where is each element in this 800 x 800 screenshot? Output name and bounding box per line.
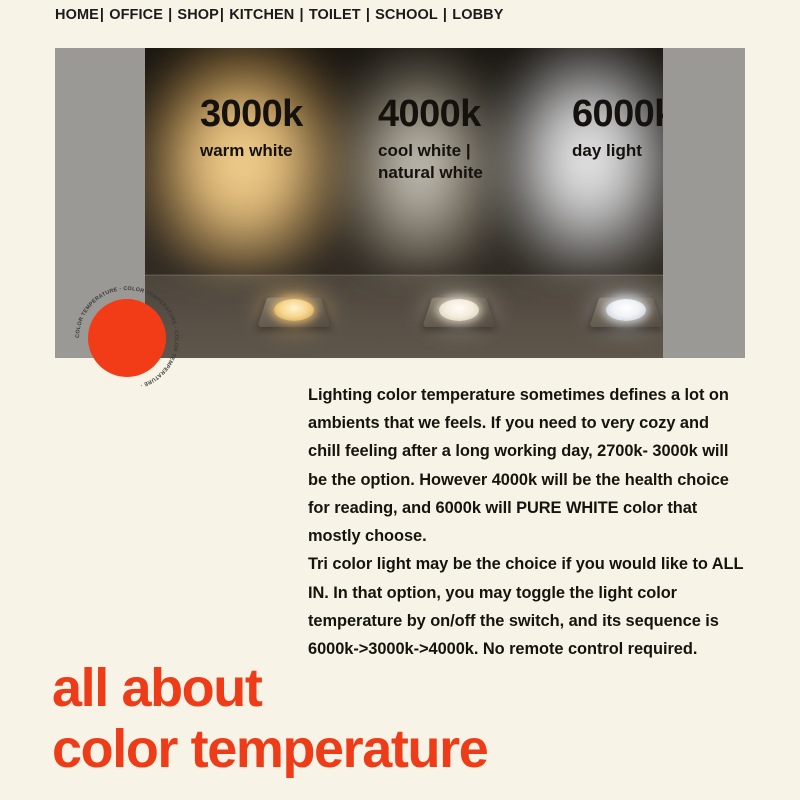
downlight-lens [274,299,314,321]
kelvin-desc-6000k: day light [572,140,663,162]
downlight-fixture-4000k [428,290,490,330]
kelvin-label-3000k: 3000k warm white [200,95,303,162]
page-headline: all about color temperature [52,658,487,780]
kelvin-labels: 3000k warm white 4000k cool white | natu… [145,48,663,275]
kelvin-desc-3000k: warm white [200,140,303,162]
downlight-fixture-3000k [263,290,325,330]
nav-item-school[interactable]: SCHOOL [375,7,438,23]
article-body: Lighting color temperature sometimes def… [308,381,744,663]
kelvin-label-6000k: 6000k day light [572,95,663,162]
kelvin-label-4000k: 4000k cool white | natural white [378,95,483,184]
kelvin-value-3000k: 3000k [200,95,303,133]
main-navigation[interactable]: HOME| OFFICE | SHOP| KITCHEN | TOILET | … [55,7,503,23]
nav-item-lobby[interactable]: LOBBY [452,7,503,23]
nav-item-toilet[interactable]: TOILET [309,7,361,23]
circular-stamp-badge: COLOR TEMPERATURE · COLOR TEMPERATURE · … [74,285,180,391]
kelvin-value-6000k: 6000k [572,95,663,133]
nav-item-home[interactable]: HOME [55,7,99,23]
downlight-fixture-6000k [595,290,657,330]
badge-red-dot [88,299,166,377]
body-paragraph-1: Lighting color temperature sometimes def… [308,381,744,550]
downlight-lens [439,299,479,321]
nav-separator: | [163,7,173,23]
nav-separator: | [294,7,304,23]
nav-separator: | [438,7,448,23]
body-paragraph-2: Tri color light may be the choice if you… [308,550,744,663]
downlight-lens [606,299,646,321]
nav-separator: | [99,7,105,23]
nav-item-office[interactable]: OFFICE [109,7,163,23]
kelvin-desc-4000k: cool white | natural white [378,140,483,184]
nav-item-kitchen[interactable]: KITCHEN [229,7,294,23]
nav-separator: | [219,7,225,23]
hero-matte-right [663,48,745,358]
kelvin-value-4000k: 4000k [378,95,483,133]
nav-item-shop[interactable]: SHOP [177,7,219,23]
nav-separator: | [361,7,371,23]
lighting-scene: 3000k warm white 4000k cool white | natu… [145,48,663,358]
